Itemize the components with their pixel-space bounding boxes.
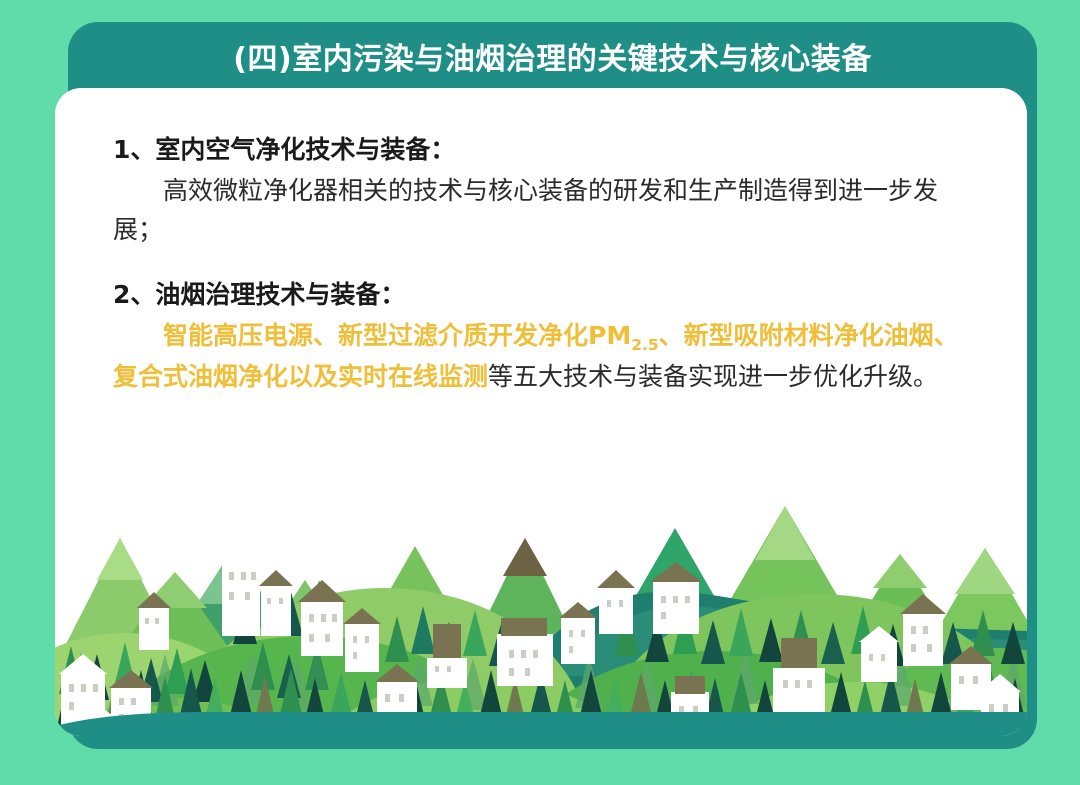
- section-1-heading: 1、室内空气净化技术与装备：: [113, 133, 971, 167]
- content-panel: 1、室内空气净化技术与装备： 高效微粒净化器相关的技术与核心装备的研发和生产制造…: [55, 88, 1027, 736]
- title-bar: (四)室内污染与油烟治理的关键技术与核心装备: [68, 22, 1037, 90]
- page-title: (四)室内污染与油烟治理的关键技术与核心装备: [233, 34, 871, 78]
- section-2-body-suffix: 等五大技术与装备实现进一步优化升级。: [488, 362, 938, 391]
- section-2-body: 智能高压电源、新型过滤介质开发净化PM2.5、新型吸附材料净化油烟、复合式油烟净…: [113, 316, 971, 397]
- highlight-text-part1: 智能高压电源、新型过滤介质开发净化PM: [163, 321, 631, 350]
- body-copy: 1、室内空气净化技术与装备： 高效微粒净化器相关的技术与核心装备的研发和生产制造…: [113, 133, 971, 396]
- section-1: 1、室内空气净化技术与装备： 高效微粒净化器相关的技术与核心装备的研发和生产制造…: [113, 133, 971, 250]
- pm-subscript: 2.5: [631, 336, 658, 354]
- section-2: 2、油烟治理技术与装备： 智能高压电源、新型过滤介质开发净化PM2.5、新型吸附…: [113, 278, 971, 397]
- section-2-heading: 2、油烟治理技术与装备：: [113, 278, 971, 312]
- landscape-illustration: [55, 476, 1027, 736]
- section-1-body: 高效微粒净化器相关的技术与核心装备的研发和生产制造得到进一步发展；: [113, 171, 971, 250]
